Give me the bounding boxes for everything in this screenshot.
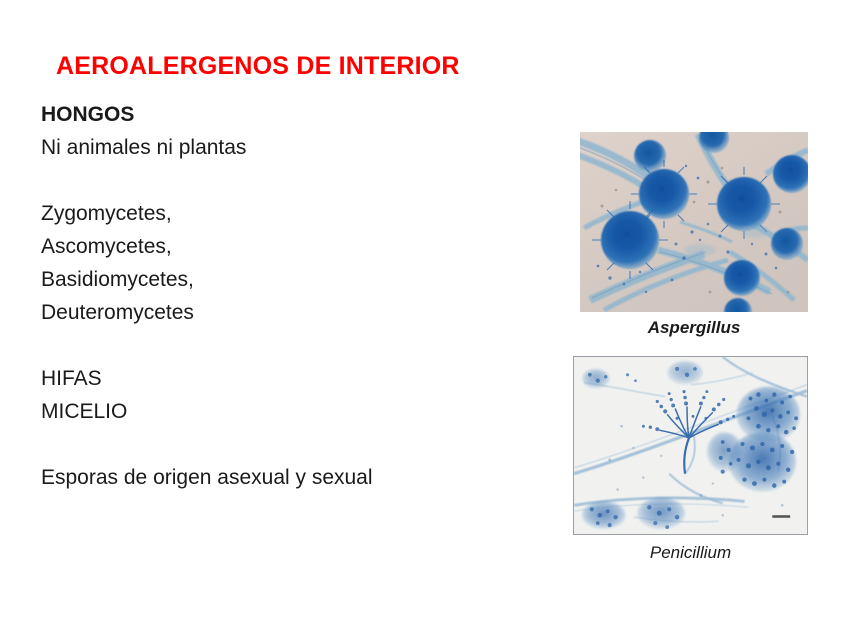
aspergillus-micrograph-image [580,132,808,312]
slide-canvas: AEROALERGENOS DE INTERIOR HONGOS Ni anim… [0,0,848,636]
text-line-ni-animales: Ni animales ni plantas [41,131,501,164]
figure-penicillium: Penicillium [573,356,808,563]
text-line-deuteromycetes: Deuteromycetes [41,296,501,329]
text-line-spacer-1 [41,164,501,197]
figure-aspergillus: Aspergillus [580,132,808,338]
text-line-spacer-3 [41,428,501,461]
figure-caption-penicillium: Penicillium [573,543,808,563]
text-line-spacer-2 [41,329,501,362]
text-line-ascomycetes: Ascomycetes, [41,230,501,263]
scale-bar [772,515,790,518]
text-line-zygomycetes: Zygomycetes, [41,197,501,230]
text-line-basidiomycetes: Basidiomycetes, [41,263,501,296]
page-title: AEROALERGENOS DE INTERIOR [56,52,460,81]
text-line-micelio: MICELIO [41,395,501,428]
figure-caption-aspergillus: Aspergillus [580,318,808,338]
penicillium-micrograph-image [573,356,808,535]
text-line-esporas: Esporas de origen asexual y sexual [41,461,501,494]
text-line-hongos: HONGOS [41,98,501,131]
text-line-hifas: HIFAS [41,362,501,395]
body-text-block: HONGOS Ni animales ni plantas Zygomycete… [41,98,501,494]
